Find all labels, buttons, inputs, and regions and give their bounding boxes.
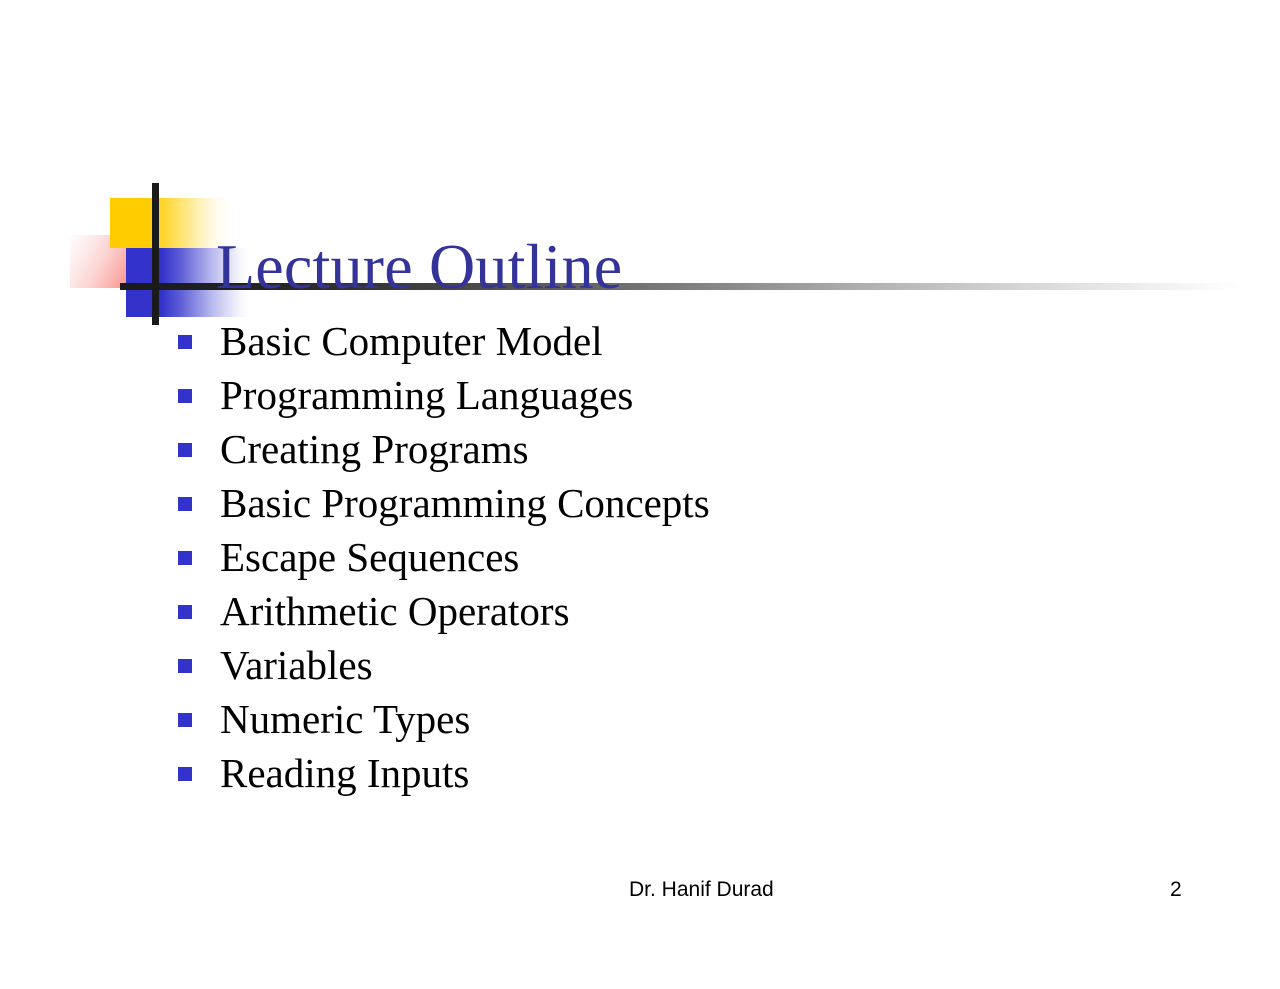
bullet-square-icon	[178, 713, 192, 727]
bullet-square-icon	[178, 659, 192, 673]
slide-page-number: 2	[1170, 878, 1182, 902]
list-item[interactable]: Programming Languages	[178, 368, 1178, 422]
bullet-square-icon	[178, 605, 192, 619]
list-item-label: Variables	[220, 638, 373, 692]
list-item[interactable]: Numeric Types	[178, 692, 1178, 746]
list-item[interactable]: Basic Programming Concepts	[178, 476, 1178, 530]
list-item-label: Basic Programming Concepts	[220, 476, 710, 530]
bullet-square-icon	[178, 443, 192, 457]
bullet-square-icon	[178, 767, 192, 781]
list-item-label: Numeric Types	[220, 692, 470, 746]
list-item[interactable]: Creating Programs	[178, 422, 1178, 476]
outline-list: Basic Computer Model Programming Languag…	[178, 314, 1178, 800]
list-item-label: Creating Programs	[220, 422, 529, 476]
vertical-rule-accent	[152, 183, 159, 325]
list-item-label: Programming Languages	[220, 368, 633, 422]
list-item[interactable]: Variables	[178, 638, 1178, 692]
yellow-square-icon	[110, 198, 146, 248]
list-item-label: Reading Inputs	[220, 746, 469, 800]
bullet-square-icon	[178, 551, 192, 565]
list-item[interactable]: Arithmetic Operators	[178, 584, 1178, 638]
list-item-label: Escape Sequences	[220, 530, 519, 584]
footer-author: Dr. Hanif Durad	[629, 878, 774, 902]
list-item[interactable]: Escape Sequences	[178, 530, 1178, 584]
bullet-square-icon	[178, 335, 192, 349]
page-title: Lecture Outline	[216, 231, 622, 303]
slide-canvas: Lecture Outline Basic Computer Model Pro…	[0, 0, 1280, 989]
list-item-label: Arithmetic Operators	[220, 584, 570, 638]
list-item[interactable]: Reading Inputs	[178, 746, 1178, 800]
list-item-label: Basic Computer Model	[220, 314, 603, 368]
bullet-square-icon	[178, 497, 192, 511]
list-item[interactable]: Basic Computer Model	[178, 314, 1178, 368]
bullet-square-icon	[178, 389, 192, 403]
